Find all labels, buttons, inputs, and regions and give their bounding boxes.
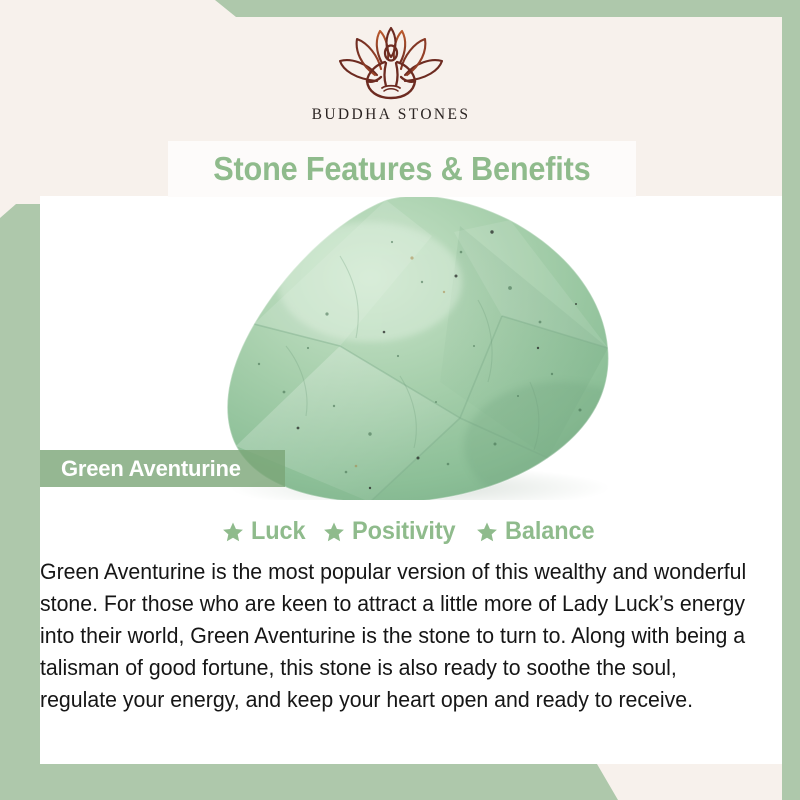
feature-label: Positivity [352,517,456,546]
frame-right-band [782,0,800,800]
feature-item: Luck [222,517,309,546]
lotus-meditation-icon [337,25,445,103]
brand-header: BUDDHA STONES [0,17,782,142]
infographic-page: BUDDHA STONES Stone Features & Benefits [0,0,800,800]
title-banner: Stone Features & Benefits [168,141,636,197]
feature-label: Luck [251,517,305,546]
stone-description: Green Aventurine is the most popular ver… [40,556,764,716]
stone-photo: Green Aventurine [40,196,782,500]
frame-bottom-band [0,764,800,800]
page-title: Stone Features & Benefits [213,150,590,188]
star-icon [323,521,345,543]
feature-label: Balance [505,517,594,546]
frame-top-band [0,0,800,17]
feature-item: Balance [476,517,600,546]
description-panel: Luck Positivity Balance Green Aventurine… [40,500,782,764]
frame-left-band [0,204,40,800]
star-icon [222,521,244,543]
star-icon [476,521,498,543]
brand-wordmark: BUDDHA STONES [312,106,471,124]
feature-list: Luck Positivity Balance [40,517,782,546]
feature-item: Positivity [323,517,462,546]
stone-name-label: Green Aventurine [61,456,241,482]
stone-name-bar: Green Aventurine [40,450,285,487]
